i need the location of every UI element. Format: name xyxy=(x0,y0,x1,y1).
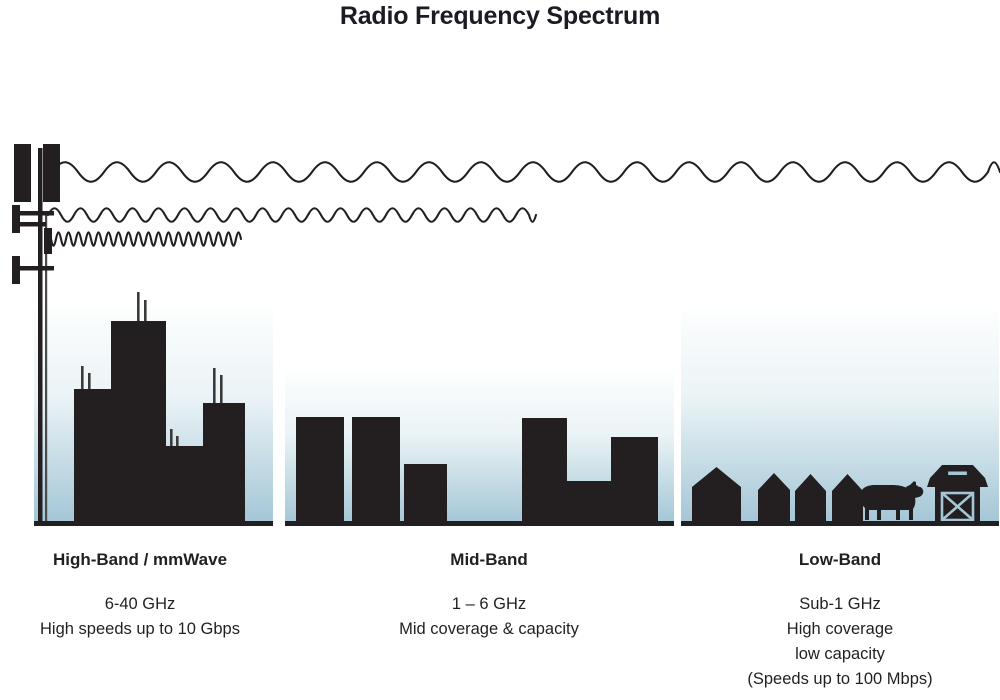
band-desc-mid-band: 1 – 6 GHz Mid coverage & capacity xyxy=(349,592,629,642)
building xyxy=(404,464,447,523)
building xyxy=(522,418,567,523)
band-detail-mid-band-0: Mid coverage & capacity xyxy=(349,617,629,642)
band-frequency-low-band: Sub-1 GHz xyxy=(700,592,980,617)
tower-antenna-panel-right xyxy=(43,144,60,202)
band-frequency-high-band: 6-40 GHz xyxy=(0,592,280,617)
high-frequency-wave xyxy=(46,232,241,246)
tower-crossarm-upper-2 xyxy=(14,222,46,227)
building xyxy=(111,321,166,523)
building xyxy=(164,446,205,523)
band-desc-high-band: 6-40 GHz High speeds up to 10 Gbps xyxy=(0,592,280,642)
tower-antenna-panel-left xyxy=(14,144,31,202)
mid-frequency-wave xyxy=(48,208,536,222)
band-detail-high-band-0: High speeds up to 10 Gbps xyxy=(0,617,280,642)
band-frequency-mid-band: 1 – 6 GHz xyxy=(349,592,629,617)
band-detail-low-band-0: High coverage xyxy=(700,617,980,642)
band-label-high-band: High-Band / mmWave xyxy=(0,550,280,570)
ground-line-high-band xyxy=(34,521,273,526)
band-desc-low-band: Sub-1 GHz High coverage low capacity (Sp… xyxy=(700,592,980,692)
building xyxy=(352,417,400,523)
tower-crossarm-lower xyxy=(14,266,54,271)
ground-line-mid-band xyxy=(285,521,674,526)
band-detail-low-band-2: (Speeds up to 100 Mbps) xyxy=(700,667,980,692)
band-label-low-band: Low-Band xyxy=(700,550,980,570)
band-detail-low-band-1: low capacity xyxy=(700,642,980,667)
tower-mast-main xyxy=(38,148,43,521)
barn-loft-window xyxy=(948,472,967,476)
building xyxy=(203,403,245,523)
band-label-mid-band: Mid-Band xyxy=(349,550,629,570)
tower-crossarm-upper xyxy=(14,211,54,216)
low-frequency-wave xyxy=(52,162,1000,182)
building xyxy=(611,437,658,523)
building xyxy=(296,417,344,523)
tower-antenna-small-mid xyxy=(44,228,52,254)
tower-antenna-small-upper-left xyxy=(12,205,20,233)
infographic-root: Radio Frequency Spectrum High-Band / mmW… xyxy=(0,0,1000,700)
ground-line-low-band xyxy=(681,521,999,526)
building xyxy=(74,389,114,523)
building xyxy=(567,481,611,523)
building-spire xyxy=(213,368,216,409)
tower-mast-secondary xyxy=(45,212,47,521)
